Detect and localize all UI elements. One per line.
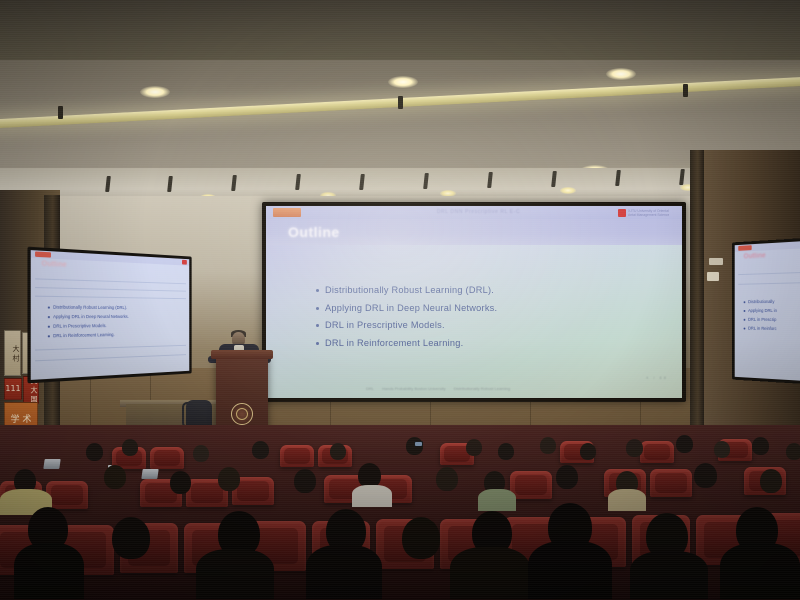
list-item: DRL in Reinforcement Learning. (316, 337, 662, 349)
audience-head (760, 469, 782, 493)
audience-head (112, 517, 150, 559)
rule-line (35, 278, 186, 284)
audience-head (436, 467, 458, 491)
bullet-label: DRL in Prescriptive Models. (325, 319, 445, 331)
audience-head (122, 439, 138, 456)
slide-page-number: 4 / 68 (646, 375, 668, 380)
audience-head (86, 443, 103, 461)
ceiling-hanging-rod (295, 174, 301, 190)
bullet-dot-icon (48, 316, 50, 318)
bullet-label: Applying DRL in Deep Neural Networks. (325, 302, 497, 314)
list-item: DRL in Prescrip (744, 317, 777, 323)
audience-shoulders (306, 545, 382, 599)
bullet-label: Applying DRL in (748, 308, 777, 314)
ceiling-hanging-rod (679, 169, 685, 185)
bullet-label: Distributionally Robust Learning (DRL). (325, 284, 494, 296)
bullet-dot-icon (744, 301, 746, 303)
bullet-label: Distributionally Robust Learning (DRL). (53, 304, 127, 311)
ceiling-hanging-rod (359, 174, 365, 190)
audience-head (170, 471, 191, 494)
footer-segment: Distributionally Robust Learning (454, 386, 510, 391)
bullet-dot-icon (316, 289, 319, 292)
bullet-label: DRL in Reinforc (748, 326, 776, 332)
wall-pillar-right (690, 150, 704, 470)
ceiling-hanging-rod (615, 170, 621, 186)
audience-head (466, 439, 482, 456)
audience-head (193, 445, 209, 462)
bullet-dot-icon (48, 306, 50, 308)
bullet-dot-icon (316, 342, 319, 345)
slide-header-text: DRL DNN Prescriptive RL E-C (386, 208, 571, 217)
bullet-label: Applying DRL in Deep Neural Networks. (53, 314, 129, 320)
slide-title: Outline (288, 223, 340, 241)
list-item: DRL in Reinforcement Learning. (48, 332, 129, 340)
ceiling-hanging-rod (487, 172, 493, 188)
list-item: Distributionally Robust Learning (DRL). (316, 284, 662, 296)
right-slide-corner-tab (738, 245, 751, 251)
audience-shoulders (478, 489, 516, 511)
list-item: Applying DRL in (744, 308, 777, 314)
podium-lectern-top (211, 350, 273, 359)
bullet-dot-icon (316, 324, 319, 327)
left-slide-corner-tab (35, 251, 51, 257)
audience-shoulders (450, 547, 530, 599)
wall-poster: 大 村 (4, 330, 21, 376)
audience-head (714, 441, 730, 458)
audience-head (580, 443, 596, 460)
ceiling-pendant (683, 84, 688, 97)
bullet-label: DRL in Prescrip (748, 317, 776, 323)
bullet-dot-icon (48, 326, 50, 328)
ceiling-spotlight (388, 76, 418, 88)
rule-line (35, 296, 186, 300)
left-slide-bullet-list: Distributionally Robust Learning (DRL). … (48, 304, 129, 342)
left-slide-title: Outline (41, 260, 66, 269)
laptop[interactable] (43, 459, 60, 469)
list-item: Applying DRL in Deep Neural Networks. (316, 302, 662, 314)
auditorium-seat[interactable] (280, 445, 314, 467)
bullet-dot-icon (744, 328, 746, 330)
ceiling-hanging-rod (551, 171, 557, 187)
audience-head (676, 435, 693, 453)
audience-head (540, 437, 556, 454)
right-slide-bullet-list: Distributionally Applying DRL in DRL in … (744, 299, 777, 335)
wall-poster: 111 (4, 378, 22, 400)
slide-corner-tab (273, 208, 301, 217)
ceiling-dark-band (0, 0, 800, 60)
ceiling-hanging-rod (423, 173, 429, 189)
audience-shoulders (14, 543, 84, 599)
ceiling-spotlight (606, 68, 636, 80)
seated-audience (0, 425, 800, 600)
right-slide-top-bar (735, 241, 800, 252)
auditorium-seat[interactable] (650, 469, 692, 497)
audience-head (786, 443, 800, 460)
auditorium-seat[interactable] (510, 471, 552, 499)
right-slide-title: Outline (744, 252, 766, 260)
rule-line (35, 354, 186, 361)
list-item: Distributionally (744, 299, 777, 305)
wall-outlet-plate[interactable] (707, 272, 719, 281)
bullet-label: DRL in Reinforcement Learning. (53, 332, 115, 339)
right-screen-surface: Outline Distributionally Applying DRL in… (735, 241, 800, 382)
audience-shoulders (196, 549, 274, 599)
audience-head (402, 517, 440, 559)
logo-text-block: XJTU University of Oriental Antai Manage… (628, 209, 669, 217)
main-screen-surface: DRL DNN Prescriptive RL E-C XJTU Univers… (266, 206, 682, 398)
smartphone-camera[interactable] (414, 441, 423, 447)
bullet-label: DRL in Prescriptive Models. (53, 323, 107, 330)
list-item: DRL in Reinforc (744, 326, 777, 332)
list-item: Applying DRL in Deep Neural Networks. (48, 314, 129, 320)
left-projection-screen[interactable]: Outline Distributionally Robust Learning… (27, 247, 191, 384)
lecture-hall-photo: 大 村 西 安 111 交 大 国 学 术 DRL DNN Prescripti… (0, 0, 800, 600)
list-item: Distributionally Robust Learning (DRL). (48, 304, 129, 311)
audience-head (294, 469, 316, 493)
auditorium-seat[interactable] (150, 447, 184, 469)
audience-head (498, 443, 514, 460)
slide-institution-logo: XJTU University of Oriental Antai Manage… (618, 207, 676, 218)
audience-head (104, 465, 126, 489)
rule-line (738, 272, 800, 275)
rule-line (35, 287, 186, 292)
footer-segment: Hands Probability Boston University (382, 386, 446, 391)
bullet-label: DRL in Reinforcement Learning. (325, 337, 463, 349)
laptop[interactable] (141, 469, 158, 479)
ceiling-hanging-rod (105, 176, 111, 192)
list-item: DRL in Prescriptive Models. (48, 323, 129, 330)
ceiling-hanging-rod (231, 175, 237, 191)
auditorium-seat[interactable] (46, 481, 88, 509)
audience-head (330, 443, 346, 460)
left-screen-surface: Outline Distributionally Robust Learning… (31, 250, 190, 380)
list-item: DRL in Prescriptive Models. (316, 319, 662, 331)
ceiling-pendant (58, 106, 63, 119)
bullet-dot-icon (744, 319, 746, 321)
footer-segment: DRL (366, 386, 374, 391)
rule-line (35, 345, 186, 351)
audience-head (694, 463, 717, 488)
ceiling-pendant (398, 96, 403, 109)
bullet-dot-icon (744, 310, 746, 312)
slide-footer: DRL Hands Probability Boston University … (266, 384, 682, 392)
auditorium-seat[interactable] (640, 441, 674, 463)
audience-head (626, 439, 643, 457)
left-slide-logo-icon (182, 260, 187, 265)
rule-line (738, 282, 800, 285)
audience-head (218, 467, 240, 491)
bullet-dot-icon (48, 335, 50, 337)
slide-top-bar: DRL DNN Prescriptive RL E-C XJTU Univers… (266, 206, 682, 219)
wall-switch-plate[interactable] (709, 258, 723, 265)
audience-head (556, 465, 578, 489)
right-display-panel[interactable]: Outline Distributionally Applying DRL in… (732, 237, 800, 384)
audience-shoulders (720, 543, 800, 599)
ceiling-spotlight (140, 86, 170, 98)
ceiling-hanging-rod (167, 176, 173, 192)
bullet-dot-icon (316, 307, 319, 310)
audience-shoulders (608, 489, 646, 511)
main-projection-screen[interactable]: DRL DNN Prescriptive RL E-C XJTU Univers… (262, 202, 686, 402)
bullet-label: Distributionally (748, 299, 774, 305)
slide-bullet-list: Distributionally Robust Learning (DRL). … (316, 284, 662, 354)
audience-head (752, 437, 769, 455)
audience-shoulders (352, 485, 392, 507)
downlight (560, 187, 576, 194)
audience-head (252, 441, 269, 459)
audience-shoulders (630, 551, 708, 599)
university-seal (231, 403, 253, 425)
logo-mark-icon (618, 209, 626, 217)
audience-shoulders (528, 541, 612, 599)
